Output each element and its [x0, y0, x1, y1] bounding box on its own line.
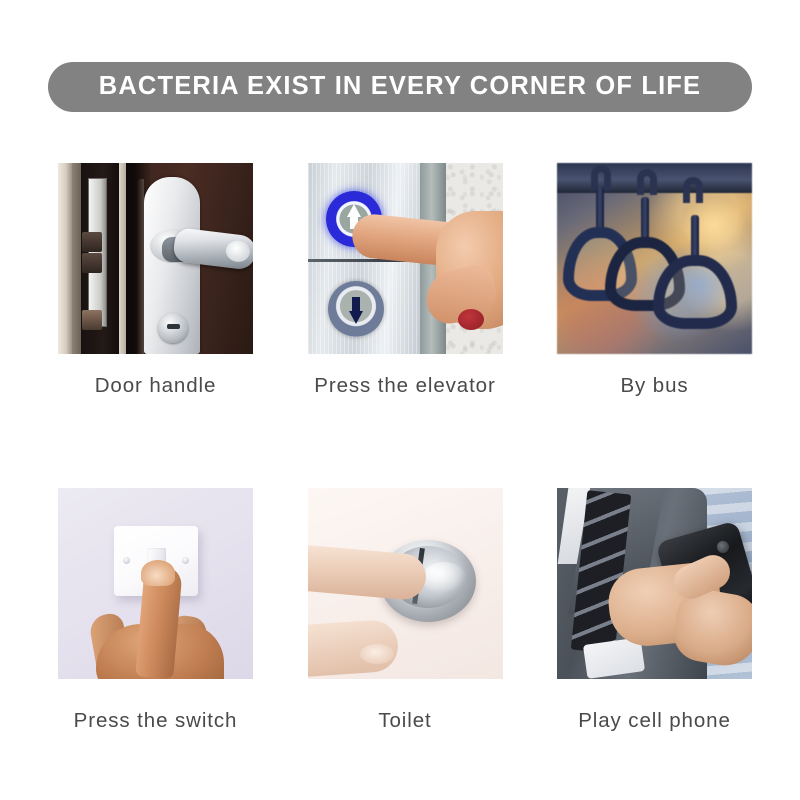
fingertip: [141, 560, 175, 586]
door-gap: [72, 163, 81, 354]
strap-hook: [637, 169, 657, 195]
caption-light-switch: Press the switch: [58, 705, 253, 737]
image-cell-phone: [557, 488, 752, 679]
painted-fingernail: [458, 309, 484, 330]
grid-item-light-switch: Press the switch: [58, 488, 253, 737]
chrome-highlight: [422, 562, 466, 594]
switch-screw: [123, 557, 130, 564]
switch-screw: [182, 557, 189, 564]
grid-item-toilet: Toilet: [308, 488, 503, 737]
image-toilet-flush: [308, 488, 503, 679]
lock-bolt: [82, 232, 102, 252]
image-elevator-button: [308, 163, 503, 354]
door-jamb: [58, 163, 72, 354]
caption-bus: By bus: [557, 370, 752, 402]
caption-toilet: Toilet: [308, 705, 503, 737]
grid-item-bus: By bus: [557, 163, 752, 402]
strap-hook: [683, 177, 703, 203]
image-bus-straps: [557, 163, 752, 354]
door-frame-sliver: [119, 163, 126, 354]
keyhole-icon: [158, 313, 188, 343]
lock-bolt: [82, 310, 102, 330]
strap-arm: [641, 197, 649, 241]
grid-item-door-handle: Door handle: [58, 163, 253, 402]
fingernail: [360, 644, 394, 664]
elevator-down-button-icon: [328, 281, 384, 337]
headline-banner: BACTERIA EXIST IN EVERY CORNER OF LIFE: [48, 62, 752, 112]
caption-elevator: Press the elevator: [308, 370, 503, 402]
lock-bolt: [82, 253, 102, 273]
strap-arm: [691, 215, 699, 259]
scenario-grid: Door handle Press the elevator: [58, 163, 752, 737]
caption-cell-phone: Play cell phone: [557, 705, 752, 737]
door-shadow-gap: [126, 163, 134, 354]
caption-door-handle: Door handle: [58, 370, 253, 402]
grid-item-cell-phone: Play cell phone: [557, 488, 752, 737]
grid-item-elevator: Press the elevator: [308, 163, 503, 402]
image-light-switch: [58, 488, 253, 679]
infographic-page: BACTERIA EXIST IN EVERY CORNER OF LIFE: [0, 0, 800, 800]
strap-arm: [596, 187, 604, 231]
image-door-handle: [58, 163, 253, 354]
headline-text: BACTERIA EXIST IN EVERY CORNER OF LIFE: [99, 74, 701, 100]
